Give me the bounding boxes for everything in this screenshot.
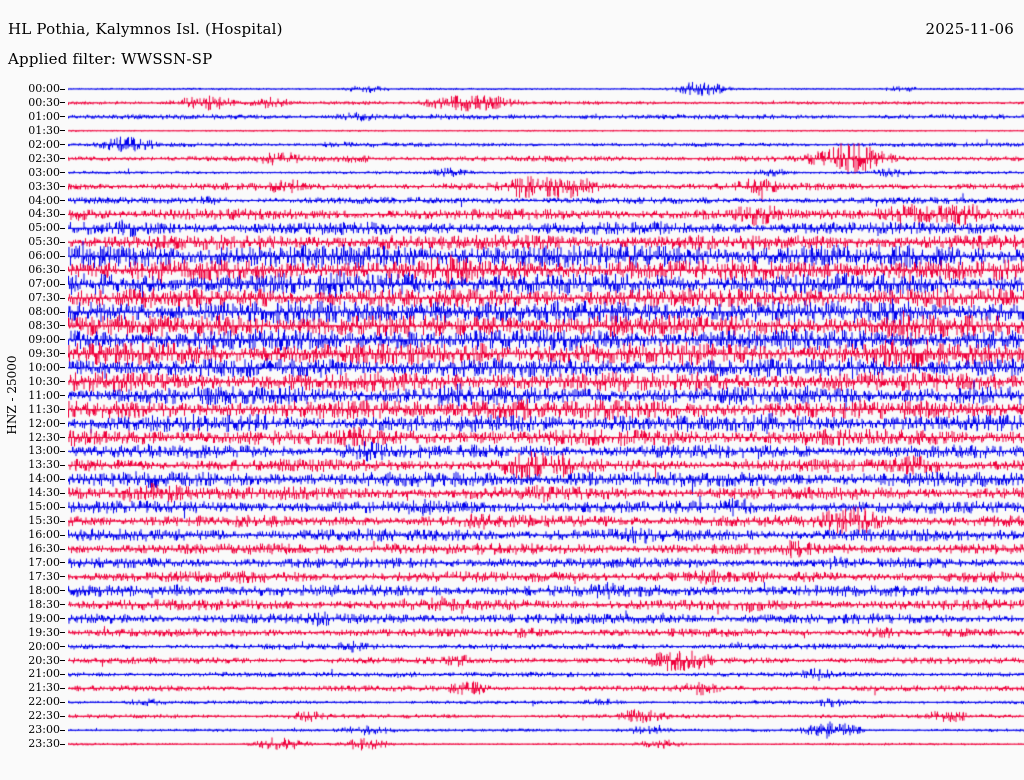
- time-tick: [60, 576, 65, 577]
- time-tick: [60, 200, 65, 201]
- time-label: 09:00: [28, 334, 60, 345]
- time-tick: [60, 702, 65, 703]
- time-tick: [60, 395, 65, 396]
- time-label: 19:00: [28, 613, 60, 624]
- time-label: 05:00: [28, 222, 60, 233]
- time-label: 10:00: [28, 362, 60, 373]
- time-label: 16:00: [28, 529, 60, 540]
- time-tick: [60, 89, 65, 90]
- time-tick: [60, 158, 65, 159]
- time-label: 18:00: [28, 585, 60, 596]
- time-tick: [60, 590, 65, 591]
- time-label: 15:00: [28, 501, 60, 512]
- time-tick: [60, 172, 65, 173]
- time-tick: [60, 102, 65, 103]
- time-tick: [60, 409, 65, 410]
- time-label: 14:30: [28, 487, 60, 498]
- time-tick: [60, 562, 65, 563]
- time-label: 13:00: [28, 445, 60, 456]
- time-label: 19:30: [28, 627, 60, 638]
- time-tick: [60, 228, 65, 229]
- time-axis: 00:0000:3001:0001:3002:0002:3003:0003:30…: [0, 80, 68, 780]
- time-tick: [60, 116, 65, 117]
- time-tick: [60, 688, 65, 689]
- time-tick: [60, 535, 65, 536]
- time-label: 10:30: [28, 376, 60, 387]
- time-label: 11:00: [28, 390, 60, 401]
- time-tick: [60, 437, 65, 438]
- time-label: 02:30: [28, 153, 60, 164]
- time-tick: [60, 381, 65, 382]
- time-label: 07:00: [28, 278, 60, 289]
- time-label: 17:30: [28, 571, 60, 582]
- plot-date: 2025-11-06: [926, 20, 1014, 38]
- time-tick: [60, 730, 65, 731]
- time-label: 04:00: [28, 195, 60, 206]
- time-label: 16:30: [28, 543, 60, 554]
- time-tick: [60, 270, 65, 271]
- time-label: 00:00: [28, 83, 60, 94]
- time-tick: [60, 423, 65, 424]
- time-tick: [60, 744, 65, 745]
- time-tick: [60, 604, 65, 605]
- time-label: 22:00: [28, 696, 60, 707]
- time-tick: [60, 256, 65, 257]
- time-label: 08:00: [28, 306, 60, 317]
- time-tick: [60, 353, 65, 354]
- time-label: 21:00: [28, 668, 60, 679]
- time-tick: [60, 632, 65, 633]
- time-label: 03:30: [28, 181, 60, 192]
- time-tick: [60, 130, 65, 131]
- applied-filter-label: Applied filter: WWSSN-SP: [8, 50, 212, 68]
- time-label: 14:00: [28, 473, 60, 484]
- time-tick: [60, 325, 65, 326]
- time-label: 20:00: [28, 641, 60, 652]
- time-tick: [60, 144, 65, 145]
- time-label: 01:00: [28, 111, 60, 122]
- time-label: 08:30: [28, 320, 60, 331]
- time-label: 00:30: [28, 97, 60, 108]
- time-label: 12:00: [28, 418, 60, 429]
- time-tick: [60, 367, 65, 368]
- time-label: 11:30: [28, 404, 60, 415]
- time-label: 06:00: [28, 250, 60, 261]
- time-label: 12:30: [28, 432, 60, 443]
- time-label: 22:30: [28, 710, 60, 721]
- time-label: 03:00: [28, 167, 60, 178]
- time-label: 20:30: [28, 655, 60, 666]
- time-label: 06:30: [28, 264, 60, 275]
- time-label: 07:30: [28, 292, 60, 303]
- time-label: 21:30: [28, 682, 60, 693]
- time-label: 18:30: [28, 599, 60, 610]
- time-label: 13:30: [28, 459, 60, 470]
- time-label: 17:00: [28, 557, 60, 568]
- time-tick: [60, 716, 65, 717]
- time-label: 23:00: [28, 724, 60, 735]
- time-tick: [60, 618, 65, 619]
- time-label: 05:30: [28, 236, 60, 247]
- time-label: 01:30: [28, 125, 60, 136]
- time-tick: [60, 646, 65, 647]
- time-tick: [60, 493, 65, 494]
- time-tick: [60, 674, 65, 675]
- helicorder-plot: 00:0000:3001:0001:3002:0002:3003:0003:30…: [0, 80, 1024, 780]
- time-tick: [60, 242, 65, 243]
- time-label: 15:30: [28, 515, 60, 526]
- time-tick: [60, 339, 65, 340]
- seismogram-traces: [68, 80, 1024, 780]
- time-tick: [60, 549, 65, 550]
- time-label: 02:00: [28, 139, 60, 150]
- time-tick: [60, 660, 65, 661]
- time-tick: [60, 312, 65, 313]
- time-tick: [60, 186, 65, 187]
- chart-header: HL Pothia, Kalymnos Isl. (Hospital) 2025…: [0, 0, 1024, 80]
- station-title: HL Pothia, Kalymnos Isl. (Hospital): [8, 20, 283, 38]
- time-tick: [60, 479, 65, 480]
- time-tick: [60, 298, 65, 299]
- time-label: 04:30: [28, 208, 60, 219]
- time-tick: [60, 507, 65, 508]
- time-label: 23:30: [28, 738, 60, 749]
- time-label: 09:30: [28, 348, 60, 359]
- time-tick: [60, 284, 65, 285]
- time-tick: [60, 521, 65, 522]
- time-tick: [60, 214, 65, 215]
- time-tick: [60, 465, 65, 466]
- time-tick: [60, 451, 65, 452]
